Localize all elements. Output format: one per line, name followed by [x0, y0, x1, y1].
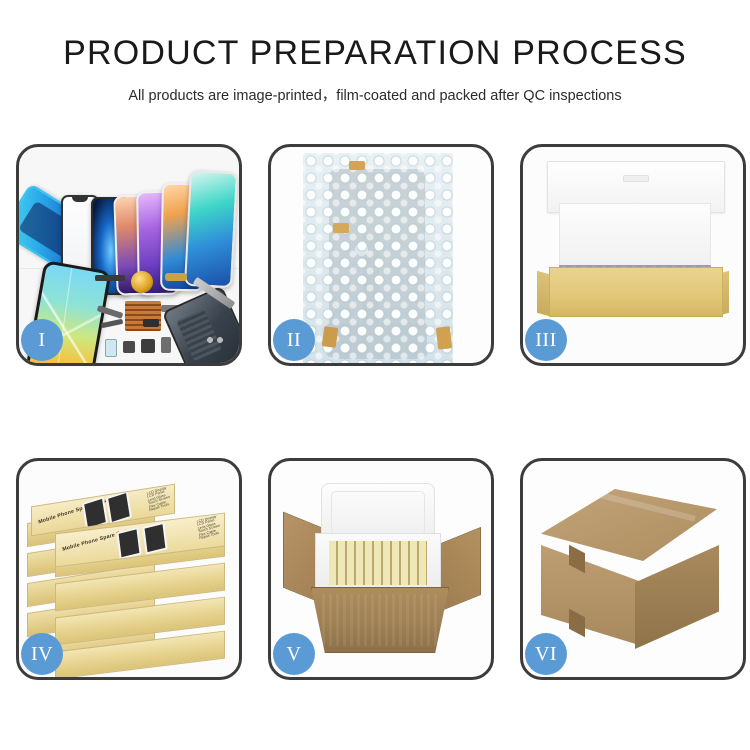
page-subtitle: All products are image-printed，film-coat… [0, 84, 750, 105]
tape-strip-right [436, 326, 452, 349]
box-art-screen-2 [106, 491, 132, 525]
box-art-screen-3 [116, 527, 141, 560]
step-badge-6: VI [525, 633, 567, 675]
screws-icon [205, 335, 225, 345]
process-step-6[interactable]: VI [520, 458, 746, 680]
flex-cable-2 [101, 319, 124, 328]
process-grid: I II [16, 144, 734, 684]
process-step-1[interactable]: I [16, 144, 242, 366]
tape-strip-middle [333, 223, 349, 233]
small-part-strip [95, 275, 125, 281]
step-badge-1: I [21, 319, 63, 361]
lid-tab [623, 175, 649, 182]
step-badge-3: III [525, 319, 567, 361]
component-chip-5 [143, 319, 159, 327]
carton-left-face [541, 545, 639, 645]
step-badge-4: IV [21, 633, 63, 675]
component-chip-3 [141, 339, 155, 353]
phone-display-5 [184, 170, 238, 288]
page-title: PRODUCT PREPARATION PROCESS [0, 36, 750, 70]
component-chip-1 [105, 339, 117, 357]
gold-connector [165, 273, 187, 281]
poster-header: PRODUCT PREPARATION PROCESS All products… [0, 0, 750, 105]
poster-root: PRODUCT PREPARATION PROCESS All products… [0, 0, 750, 750]
tape-strip-top [349, 161, 365, 170]
box-art-screen-4 [142, 522, 167, 555]
kraft-box-tray [549, 267, 723, 317]
step-badge-5: V [273, 633, 315, 675]
white-foam-sheet [559, 203, 711, 271]
process-step-3[interactable]: III [520, 144, 746, 366]
process-step-2[interactable]: II [268, 144, 494, 366]
gold-component-icon [131, 271, 153, 293]
box-spec-list-top: LCD Display LCD Panel Lens Glass Touch S… [147, 486, 172, 513]
process-step-5[interactable]: V [268, 458, 494, 680]
component-chip-4 [161, 337, 171, 353]
yellow-boxes-inside [329, 541, 427, 585]
component-chip-2 [123, 341, 135, 353]
box-spec-list-front: LCD Display LCD Panel Lens Glass Touch S… [197, 515, 222, 541]
outer-carton-body [311, 587, 449, 653]
carton-right-face [635, 545, 719, 649]
process-step-4[interactable]: Mobile Phone Spare Parts LCD Display LCD… [16, 458, 242, 680]
tape-strip-left [322, 326, 339, 348]
step-badge-2: II [273, 319, 315, 361]
